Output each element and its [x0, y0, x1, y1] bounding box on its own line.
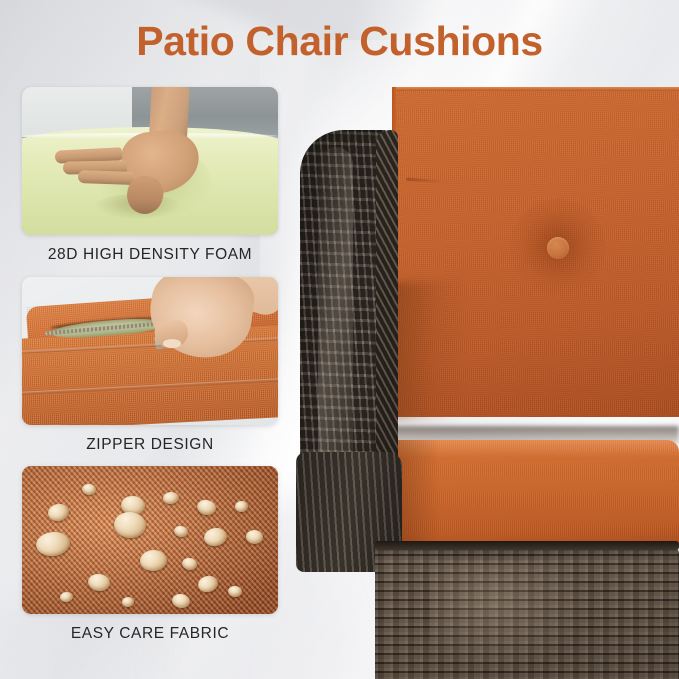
zipper-photo — [22, 277, 278, 425]
arm-cast-shadow — [392, 282, 462, 422]
base-top-rail — [375, 541, 679, 550]
foam-scene — [22, 87, 278, 235]
fabric-scene — [22, 466, 278, 614]
fabric-caption: EASY CARE FABRIC — [22, 625, 278, 643]
foam-caption: 28D HIGH DENSITY FOAM — [22, 246, 278, 264]
feature-easy-care-fabric: EASY CARE FABRIC — [22, 466, 278, 643]
feature-zipper-design: ZIPPER DESIGN — [22, 277, 278, 454]
cushion-piping-top — [392, 87, 679, 91]
wicker-base — [375, 546, 679, 679]
foam-photo — [22, 87, 278, 235]
cushion-crease — [406, 178, 444, 184]
fabric-photo — [22, 466, 278, 614]
product-photo-chair — [300, 60, 679, 679]
feature-high-density-foam: 28D HIGH DENSITY FOAM — [22, 87, 278, 264]
base-highlight — [430, 561, 588, 669]
wicker-armrest — [300, 130, 398, 562]
back-cushion — [392, 87, 679, 417]
zipper-caption: ZIPPER DESIGN — [22, 436, 278, 454]
fingernail — [163, 339, 181, 348]
seat-cushion — [382, 440, 679, 552]
page-title: Patio Chair Cushions — [0, 18, 679, 65]
infographic-page: Patio Chair Cushions 28D HIGH DENSITY FO… — [0, 0, 679, 679]
tufted-button — [547, 237, 569, 259]
finger-ring — [78, 170, 135, 185]
zipper-scene — [22, 277, 278, 425]
